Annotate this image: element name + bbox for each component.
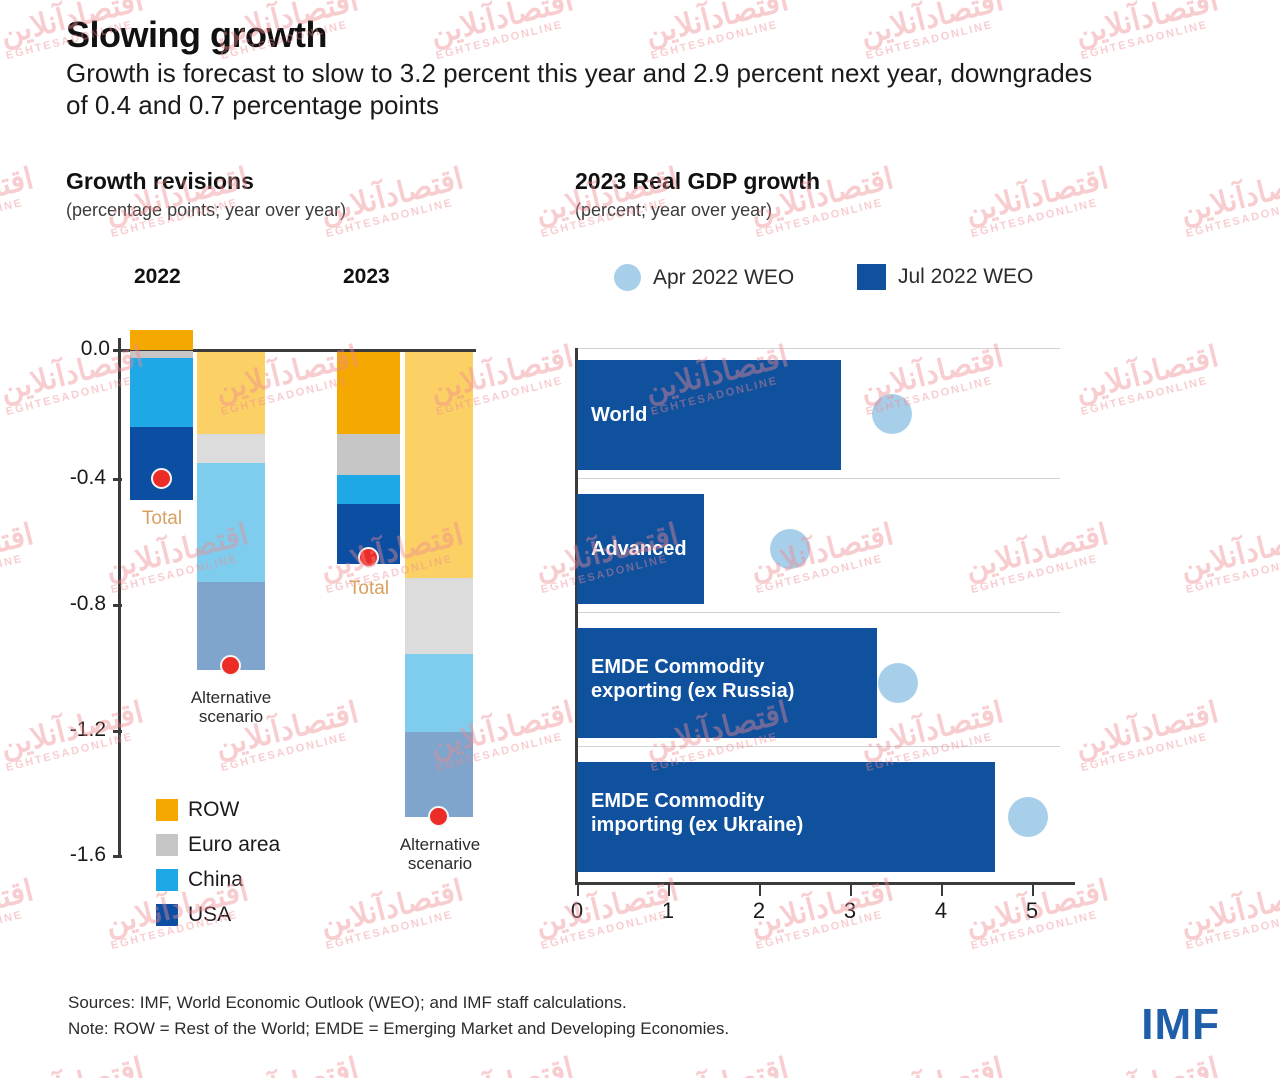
x-tick-mark-3 xyxy=(850,885,852,896)
gridline-top xyxy=(577,348,1060,349)
x-tick-mark-1 xyxy=(668,885,670,896)
legend-item-jul-weo: Jul 2022 WEO xyxy=(857,264,1033,290)
gridline-1 xyxy=(577,478,1060,479)
x-tick-label-2: 2 xyxy=(744,898,774,924)
x-tick-mark-2 xyxy=(759,885,761,896)
x-tick-label-3: 3 xyxy=(835,898,865,924)
infographic-root: Slowing growth Growth is forecast to slo… xyxy=(0,0,1280,1078)
x-tick-label-1: 1 xyxy=(653,898,683,924)
x-tick-label-5: 5 xyxy=(1017,898,1047,924)
x-tick-mark-5 xyxy=(1032,885,1034,896)
marker-world-apr-weo xyxy=(872,394,912,434)
legend-square-jul-weo-icon xyxy=(857,264,886,290)
x-tick-label-4: 4 xyxy=(926,898,956,924)
bar-label-emde-commodity-exporting: EMDE Commodityexporting (ex Russia) xyxy=(591,655,794,703)
legend-label-jul-weo: Jul 2022 WEO xyxy=(898,265,1033,289)
x-tick-mark-4 xyxy=(941,885,943,896)
bar-label-world: World xyxy=(591,403,647,427)
marker-emde-exporting-apr-weo xyxy=(878,663,918,703)
bar-label-advanced: Advanced xyxy=(591,537,687,561)
footer-note: Note: ROW = Rest of the World; EMDE = Em… xyxy=(68,1019,729,1039)
footer-sources: Sources: IMF, World Economic Outlook (WE… xyxy=(68,993,627,1013)
marker-emde-importing-apr-weo xyxy=(1008,797,1048,837)
legend-item-apr-weo: Apr 2022 WEO xyxy=(614,264,794,291)
gridline-3 xyxy=(577,746,1060,747)
bar-label-emde-commodity-importing: EMDE Commodityimporting (ex Ukraine) xyxy=(591,789,803,837)
gridline-2 xyxy=(577,612,1060,613)
legend-label-apr-weo: Apr 2022 WEO xyxy=(653,266,794,290)
x-tick-label-0: 0 xyxy=(562,898,592,924)
real-gdp-growth-chart: Apr 2022 WEO Jul 2022 WEO World Advanced… xyxy=(0,0,1280,1078)
legend-circle-apr-weo-icon xyxy=(614,264,641,291)
x-axis-line xyxy=(575,882,1075,885)
x-tick-mark-0 xyxy=(577,885,579,896)
imf-logo: IMF xyxy=(1141,1000,1220,1050)
marker-advanced-apr-weo xyxy=(770,529,810,569)
